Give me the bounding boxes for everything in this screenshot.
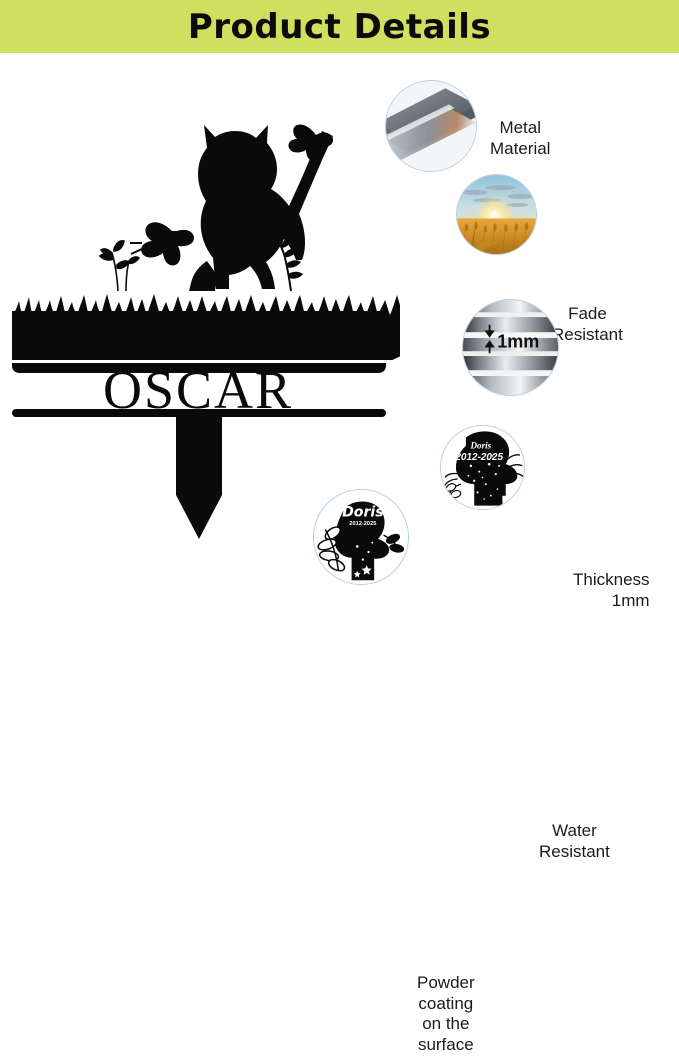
sunset-wheat-field-photo-circle xyxy=(456,174,537,255)
water-droplets-on-sign-photo-circle: Doris 2012-2025 xyxy=(440,425,525,510)
sign-dates: 2012-2025 xyxy=(349,521,376,527)
metal-sheet-photo-circle xyxy=(385,80,477,172)
ground-stake xyxy=(176,415,222,539)
product-details-banner: Product Details xyxy=(0,0,679,53)
feature-label-fade-resistant: Fade Resistant xyxy=(552,304,623,345)
sign-name: Doris xyxy=(342,504,384,520)
cat-paw xyxy=(189,261,217,291)
powder-coated-sign-photo: Doris 2012-2025 xyxy=(314,490,408,584)
feature-label-thickness: Thickness 1mm xyxy=(573,570,650,611)
powder-coated-sign-photo-circle: Doris 2012-2025 xyxy=(313,489,409,585)
metal-sheet-photo xyxy=(386,81,476,171)
metal-layers-thickness-photo: 1mm xyxy=(463,300,558,395)
feature-label-water-resistant: Water Resistant xyxy=(539,821,610,862)
sign-dates: 2012-2025 xyxy=(454,452,503,463)
feature-list: Metal Material xyxy=(300,53,679,607)
butterfly-chest xyxy=(130,222,194,265)
water-droplets-on-sign-photo: Doris 2012-2025 xyxy=(441,426,524,509)
svg-text:1mm: 1mm xyxy=(497,332,539,352)
feature-label-powder-coating: Powder coating on the surface xyxy=(417,973,475,1056)
feature-label-metal-material: Metal Material xyxy=(490,118,550,159)
sunset-wheat-field-photo xyxy=(457,175,536,254)
sign-name: Doris xyxy=(469,440,491,450)
metal-layers-thickness-photo-circle: 1mm xyxy=(462,299,559,396)
page-title: Product Details xyxy=(188,10,491,44)
wildflower-left xyxy=(100,241,139,291)
